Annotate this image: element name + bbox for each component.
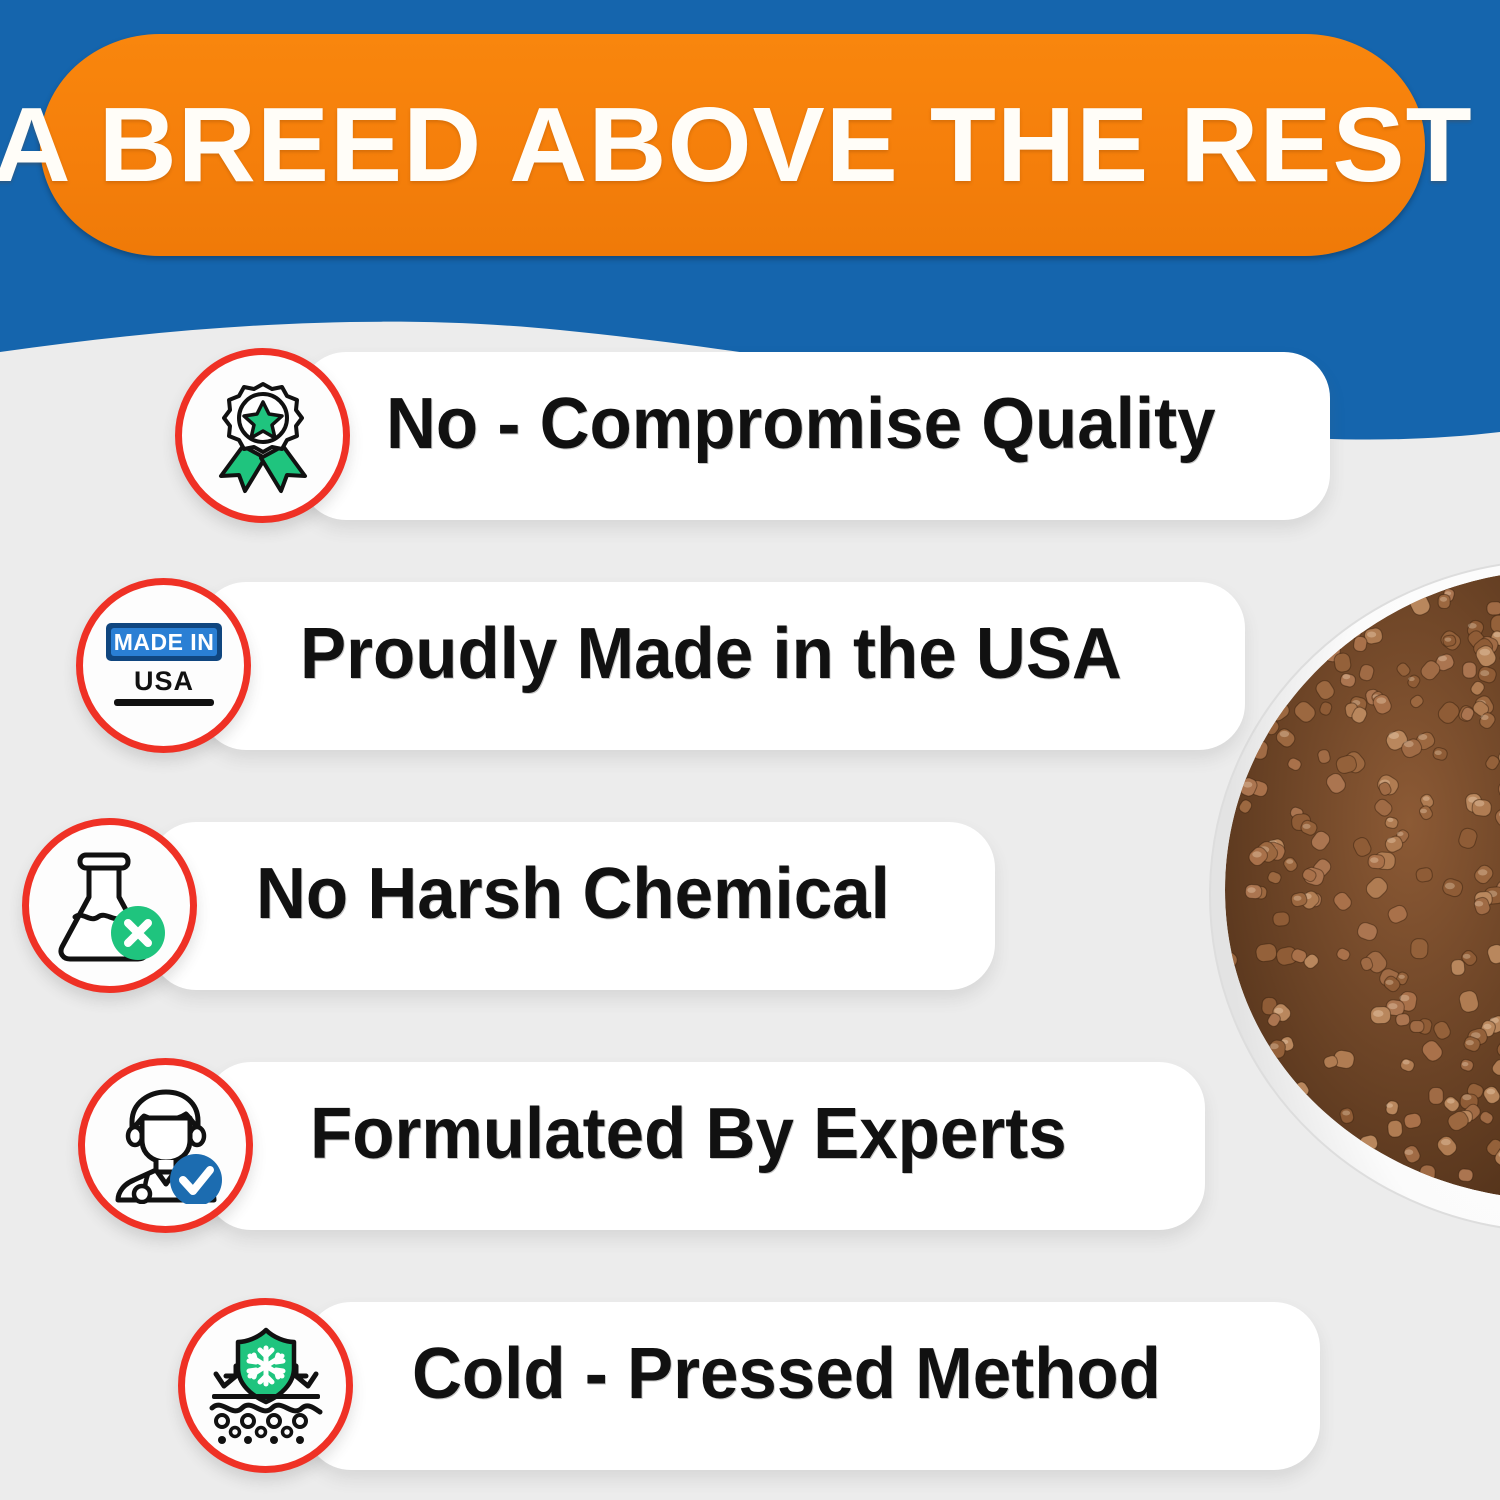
- feature-label-4: Formulated By Experts: [310, 1093, 1067, 1175]
- cold-pressed-shield-icon: [178, 1298, 353, 1473]
- doctor-verified-icon: [78, 1058, 253, 1233]
- feature-label-5: Cold - Pressed Method: [412, 1333, 1161, 1415]
- flask-no-chemical-icon: [22, 818, 197, 993]
- svg-text:USA: USA: [133, 666, 193, 696]
- feature-label-2: Proudly Made in the USA: [300, 613, 1122, 695]
- feature-label-3: No Harsh Chemical: [256, 853, 890, 935]
- made-in-usa-icon: MADE IN USA: [76, 578, 251, 753]
- page-title: A BREED ABOVE THE REST: [0, 85, 1473, 206]
- feature-label-1: No - Compromise Quality: [386, 383, 1216, 465]
- header-banner: A BREED ABOVE THE REST: [40, 34, 1425, 256]
- award-ribbon-icon: [175, 348, 350, 523]
- infographic-canvas: A BREED ABOVE THE REST: [0, 0, 1500, 1500]
- svg-text:MADE IN: MADE IN: [113, 629, 214, 655]
